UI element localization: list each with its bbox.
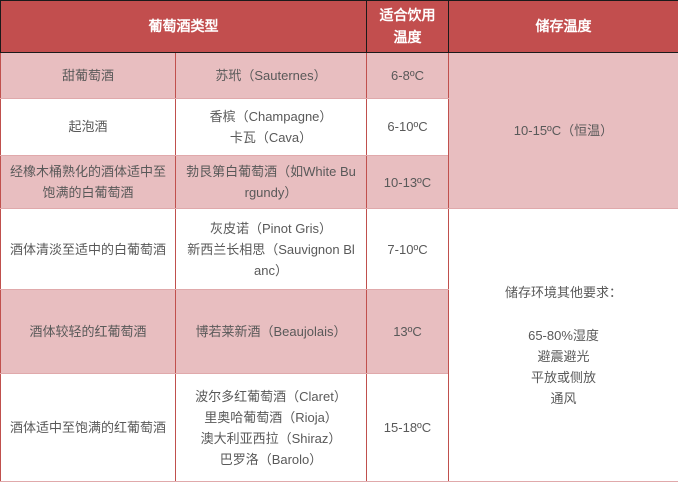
cell-serving-temperature: 6-8ºC [367,53,449,98]
column-header-wine-type: 葡萄酒类型 [1,1,367,53]
wine-example: 灰皮诺（Pinot Gris） [184,218,358,239]
table-row: 酒体清淡至适中的白葡萄酒 灰皮诺（Pinot Gris） 新西兰长相思（Sauv… [1,209,678,289]
cell-storage-requirements: 储存环境其他要求： 65-80%湿度 避震避光 平放或侧放 通风 [449,209,678,482]
cell-wine-category: 起泡酒 [1,98,176,155]
storage-requirement: 避震避光 [457,346,670,367]
wine-example: 苏玳（Sauternes） [184,65,358,86]
serving-temp-header-line-2: 温度 [373,27,442,49]
storage-requirements-title: 储存环境其他要求： [457,282,670,303]
cell-wine-examples: 苏玳（Sauternes） [176,53,367,98]
wine-example: 里奥哈葡萄酒（Rioja） [184,407,358,428]
cell-wine-examples: 香槟（Champagne） 卡瓦（Cava） [176,98,367,155]
wine-example: 巴罗洛（Barolo） [184,449,358,470]
cell-wine-category: 经橡木桶熟化的酒体适中至饱满的白葡萄酒 [1,155,176,208]
cell-wine-category: 甜葡萄酒 [1,53,176,98]
wine-temperature-table: 葡萄酒类型 适合饮用 温度 储存温度 甜葡萄酒 苏玳（Sauternes） 6-… [0,0,678,482]
wine-example: 卡瓦（Cava） [184,127,358,148]
wine-example: 澳大利亚西拉（Shiraz） [184,428,358,449]
storage-requirement: 65-80%湿度 [457,325,670,346]
cell-serving-temperature: 15-18ºC [367,374,449,482]
column-header-storage-temperature: 储存温度 [449,1,678,53]
cell-storage-temperature: 10-15ºC（恒温） [449,53,678,209]
cell-serving-temperature: 13ºC [367,289,449,373]
cell-wine-examples: 勃艮第白葡萄酒（如White Burgundy） [176,155,367,208]
wine-example: 博若莱新酒（Beaujolais） [184,321,358,342]
table-body: 甜葡萄酒 苏玳（Sauternes） 6-8ºC 10-15ºC（恒温） 起泡酒… [1,53,678,482]
storage-requirement: 通风 [457,388,670,409]
header-row: 葡萄酒类型 适合饮用 温度 储存温度 [1,1,678,53]
cell-serving-temperature: 7-10ºC [367,209,449,289]
wine-example: 新西兰长相思（Sauvignon Blanc） [184,239,358,281]
cell-wine-category: 酒体较轻的红葡萄酒 [1,289,176,373]
wine-example: 波尔多红葡萄酒（Claret） [184,386,358,407]
cell-wine-category: 酒体清淡至适中的白葡萄酒 [1,209,176,289]
cell-wine-examples: 博若莱新酒（Beaujolais） [176,289,367,373]
cell-wine-category: 酒体适中至饱满的红葡萄酒 [1,374,176,482]
cell-serving-temperature: 6-10ºC [367,98,449,155]
serving-temp-header-line-1: 适合饮用 [373,5,442,27]
storage-requirement: 平放或侧放 [457,367,670,388]
wine-example: 勃艮第白葡萄酒（如White Burgundy） [184,161,358,203]
table-row: 甜葡萄酒 苏玳（Sauternes） 6-8ºC 10-15ºC（恒温） [1,53,678,98]
cell-wine-examples: 波尔多红葡萄酒（Claret） 里奥哈葡萄酒（Rioja） 澳大利亚西拉（Shi… [176,374,367,482]
table-header: 葡萄酒类型 适合饮用 温度 储存温度 [1,1,678,53]
column-header-serving-temperature: 适合饮用 温度 [367,1,449,53]
wine-example: 香槟（Champagne） [184,106,358,127]
cell-serving-temperature: 10-13ºC [367,155,449,208]
cell-wine-examples: 灰皮诺（Pinot Gris） 新西兰长相思（Sauvignon Blanc） [176,209,367,289]
